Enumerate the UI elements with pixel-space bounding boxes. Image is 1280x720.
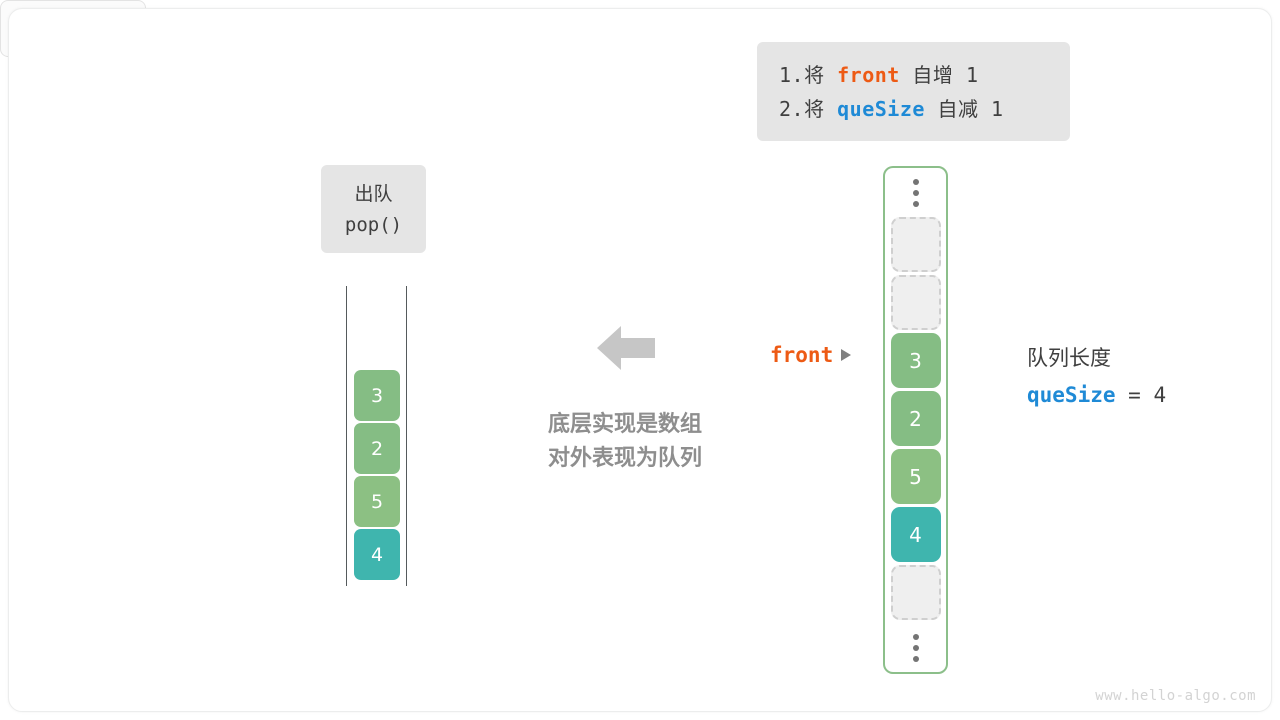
diagram-canvas: 1.将 front 自增 1 2.将 queSize 自减 1 出队 pop()… [0,0,1280,720]
array-cell-empty [891,565,941,620]
array-top-ellipsis-icon [885,168,946,217]
front-pointer-label: front [770,343,851,367]
pop-label-box: 出队 pop() [321,165,426,253]
ellipsis-dot [913,190,919,196]
flow-caption: 底层实现是数组 对外表现为队列 [505,408,745,476]
op-line-1-code: front [837,63,900,87]
queue-cell: 2 [354,423,400,474]
operation-note-line-2: 2.将 queSize 自减 1 [779,92,1048,126]
array-bottom-ellipsis-icon [885,623,946,672]
array-cell: 5 [891,449,941,504]
array-cell: 2 [891,391,941,446]
queue-size-equals: = [1116,383,1154,407]
queue-cell: 5 [354,476,400,527]
queue-rail-left [346,286,347,586]
array-view: 3254 [883,166,948,674]
ellipsis-dot [913,634,919,640]
queue-size-title: 队列长度 [1027,340,1166,377]
front-pointer-text: front [770,343,833,367]
flow-caption-line-2: 对外表现为队列 [505,442,745,476]
queue-cell-list: 3254 [354,370,400,580]
operation-note-line-1: 1.将 front 自增 1 [779,58,1048,92]
array-cell: 4 [891,507,941,562]
front-pointer-arrow-icon [841,349,851,361]
queue-size-note: 队列长度 queSize = 4 [1027,340,1166,414]
queue-size-var: queSize [1027,383,1116,407]
operation-note-box: 1.将 front 自增 1 2.将 queSize 自减 1 [757,42,1070,141]
ellipsis-dot [913,179,919,185]
array-cell-empty [891,275,941,330]
array-cell: 3 [891,333,941,388]
op-line-1-prefix: 将 [804,63,837,87]
watermark: www.hello-algo.com [1095,688,1256,704]
queue-size-expression: queSize = 4 [1027,377,1166,414]
array-cell-list: 3254 [891,217,941,623]
queue-cell: 4 [354,529,400,580]
op-line-2-code: queSize [837,97,925,121]
queue-view: 3254 [340,286,415,586]
queue-size-value: 4 [1153,383,1166,407]
op-line-1-suffix: 自增 1 [900,63,979,87]
op-line-2-prefix: 将 [804,97,837,121]
op-line-2-suffix: 自减 1 [925,97,1004,121]
ellipsis-dot [913,645,919,651]
ellipsis-dot [913,201,919,207]
array-cell-empty [891,217,941,272]
flow-arrow-icon [595,320,657,376]
op-line-2-index: 2. [779,97,804,121]
queue-cell: 3 [354,370,400,421]
pop-label-method: pop() [321,210,426,241]
queue-rail-right [406,286,407,586]
flow-caption-line-1: 底层实现是数组 [505,408,745,442]
ellipsis-dot [913,656,919,662]
pop-label-title: 出队 [321,179,426,210]
op-line-1-index: 1. [779,63,804,87]
